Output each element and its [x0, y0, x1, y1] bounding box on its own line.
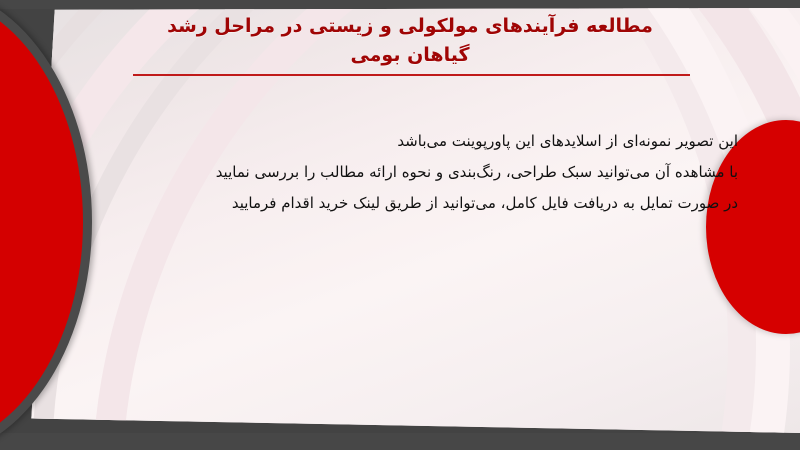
slide-title: مطالعه فرآیندهای مولکولی و زیستی در مراح… [110, 12, 710, 70]
slide-canvas [22, 8, 800, 433]
presentation-slide: مطالعه فرآیندهای مولکولی و زیستی در مراح… [0, 0, 800, 450]
body-line-3: در صورت تمایل به دریافت فایل کامل، می‌تو… [118, 188, 738, 219]
slide-frame-bottom [0, 433, 800, 450]
slide-title-line-1: مطالعه فرآیندهای مولکولی و زیستی در مراح… [110, 12, 710, 41]
slide-title-line-2: گیاهان بومی [110, 41, 710, 70]
body-line-2: با مشاهده آن می‌توانید سبک طراحی، رنگ‌بن… [118, 157, 738, 188]
title-underline-rule [133, 74, 690, 76]
background-arc-pattern [22, 8, 800, 433]
slide-body-text: این تصویر نمونه‌ای از اسلایدهای این پاور… [118, 126, 738, 219]
body-line-1: این تصویر نمونه‌ای از اسلایدهای این پاور… [118, 126, 738, 157]
slide-frame-top [0, 0, 800, 9]
